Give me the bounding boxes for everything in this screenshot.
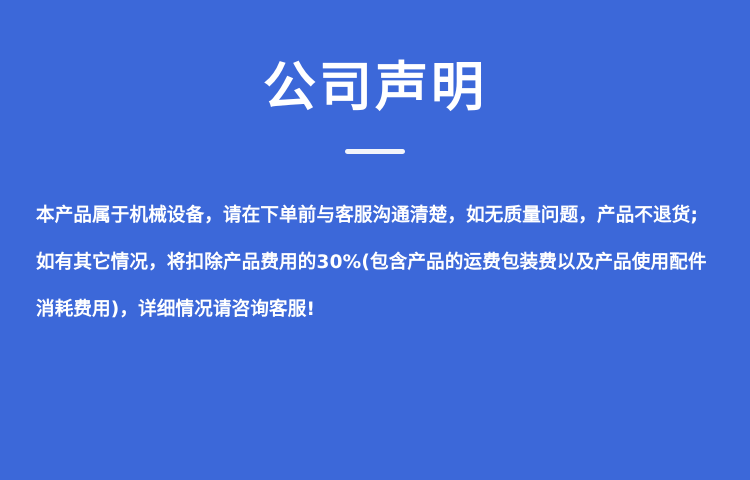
statement-body: 本产品属于机械设备，请在下单前与客服沟通清楚，如无质量问题，产品不退货; 如有其… (36, 192, 726, 333)
title-block: 公司声明 (0, 55, 750, 154)
statement-line-2: 如有其它情况，将扣除产品费用的30%(包含产品的运费包装费以及产品使用配件 (36, 239, 726, 286)
page-title: 公司声明 (0, 55, 750, 121)
statement-line-3: 消耗费用)，详细情况请咨询客服! (36, 286, 726, 333)
title-divider (345, 149, 405, 154)
statement-line-1: 本产品属于机械设备，请在下单前与客服沟通清楚，如无质量问题，产品不退货; (36, 192, 726, 239)
company-statement-banner: 公司声明 本产品属于机械设备，请在下单前与客服沟通清楚，如无质量问题，产品不退货… (0, 0, 750, 480)
